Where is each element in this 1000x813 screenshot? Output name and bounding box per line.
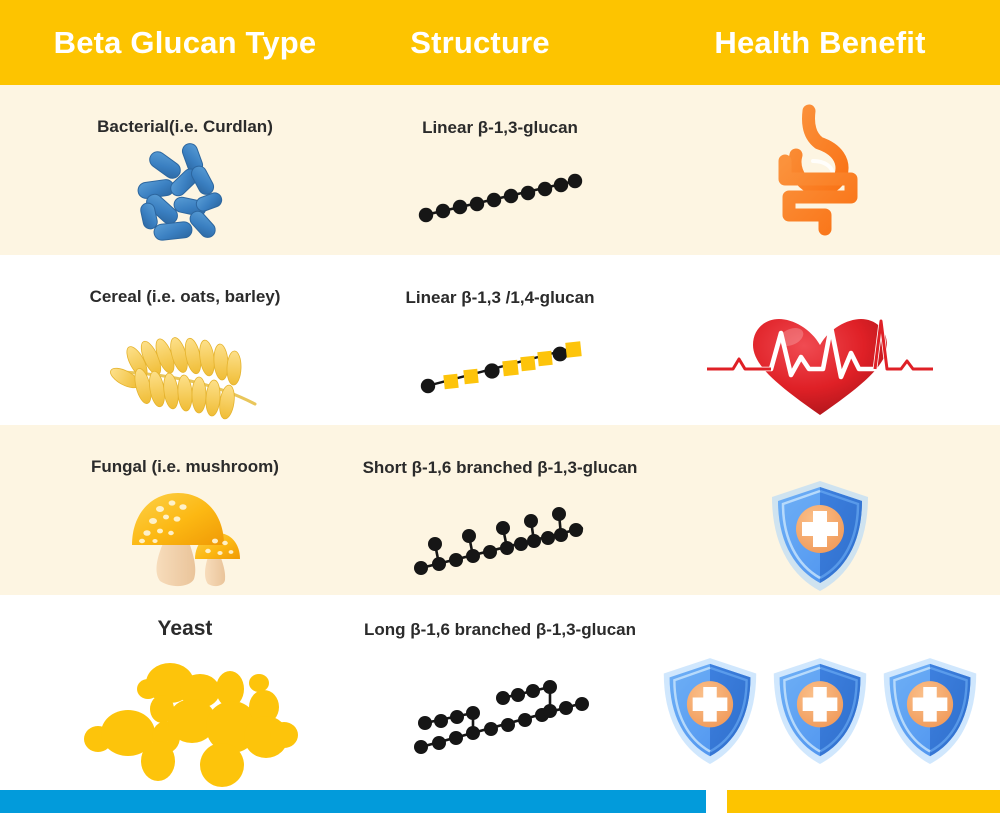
- cell-structure-fungal: Short β-1,6 branched β-1,3-glucan: [330, 425, 670, 595]
- cell-benefit-digestive: [640, 85, 1000, 255]
- type-label: Yeast: [0, 617, 370, 641]
- type-label: Cereal (i.e. oats, barley): [0, 287, 370, 307]
- bacteria-icon: [0, 143, 370, 251]
- cell-type-bacterial: Bacterial(i.e. Curdlan): [0, 85, 370, 255]
- shield-cross-icon: [640, 483, 1000, 591]
- shield-cross-icon: [768, 653, 872, 771]
- header-col-structure: Structure: [340, 0, 620, 85]
- digestive-system-icon: [640, 99, 1000, 251]
- header-col-type: Beta Glucan Type: [35, 0, 335, 85]
- table-row: Bacterial(i.e. Curdlan): [0, 85, 1000, 255]
- shield-group: [640, 647, 1000, 776]
- wheat-grain-icon: [0, 313, 370, 421]
- infographic-page: Beta Glucan Type Structure Health Benefi…: [0, 0, 1000, 813]
- cell-benefit-heart: [640, 255, 1000, 425]
- structure-label: Linear β-1,3 /1,4-glucan: [330, 288, 670, 308]
- shield-cross-icon: [658, 653, 762, 771]
- table-row: Yeast: [0, 595, 1000, 780]
- footer-bar-blue: [0, 790, 706, 813]
- table-header: Beta Glucan Type Structure Health Benefi…: [0, 0, 1000, 85]
- heart-ecg-icon: [640, 313, 1000, 421]
- footer-bar-yellow: [727, 790, 1000, 813]
- cell-type-fungal: Fungal (i.e. mushroom): [0, 425, 370, 595]
- cell-benefit-immune: [640, 425, 1000, 595]
- cell-structure-bacterial: Linear β-1,3-glucan: [330, 85, 670, 255]
- cell-type-cereal: Cereal (i.e. oats, barley): [0, 255, 370, 425]
- shield-cross-icon: [878, 653, 982, 771]
- cell-type-yeast: Yeast: [0, 595, 370, 780]
- structure-label: Long β-1,6 branched β-1,3-glucan: [330, 620, 670, 640]
- linear-chain-diagram: [330, 143, 670, 251]
- mushroom-icon: [0, 483, 370, 591]
- header-col-benefit: Health Benefit: [640, 0, 1000, 85]
- type-label: Bacterial(i.e. Curdlan): [0, 117, 370, 137]
- short-branched-chain-diagram: [330, 483, 670, 591]
- cell-benefit-immune-triple: [640, 595, 1000, 780]
- linear-mixed-chain-diagram: [330, 313, 670, 421]
- cell-structure-cereal: Linear β-1,3 /1,4-glucan: [330, 255, 670, 425]
- long-branched-chain-diagram: [330, 647, 670, 776]
- yeast-cells-icon: [0, 647, 370, 776]
- structure-label: Short β-1,6 branched β-1,3-glucan: [330, 458, 670, 478]
- type-label: Fungal (i.e. mushroom): [0, 457, 370, 477]
- table-row: Fungal (i.e. mushroom): [0, 425, 1000, 595]
- table-row: Cereal (i.e. oats, barley): [0, 255, 1000, 425]
- structure-label: Linear β-1,3-glucan: [330, 118, 670, 138]
- cell-structure-yeast: Long β-1,6 branched β-1,3-glucan: [330, 595, 670, 780]
